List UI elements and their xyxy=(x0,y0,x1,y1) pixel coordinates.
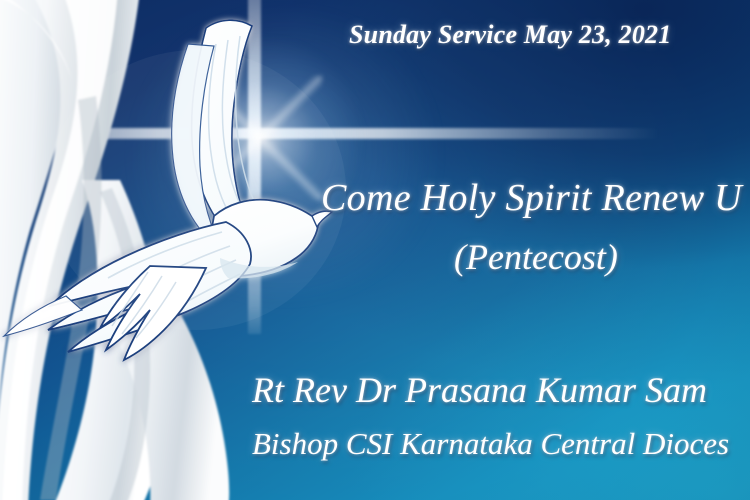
presentation-slide: Sunday Service May 23, 2021 Come Holy Sp… xyxy=(0,0,750,500)
speaker-name: Rt Rev Dr Prasana Kumar Sam xyxy=(252,369,707,411)
speaker-role: Bishop CSI Karnataka Central Dioces xyxy=(252,426,729,462)
page-subtitle: (Pentecost) xyxy=(454,236,618,278)
slide-artwork xyxy=(0,0,750,500)
service-date-line: Sunday Service May 23, 2021 xyxy=(349,20,671,50)
page-title: Come Holy Spirit Renew U xyxy=(321,176,742,220)
dove-glow xyxy=(46,50,346,330)
